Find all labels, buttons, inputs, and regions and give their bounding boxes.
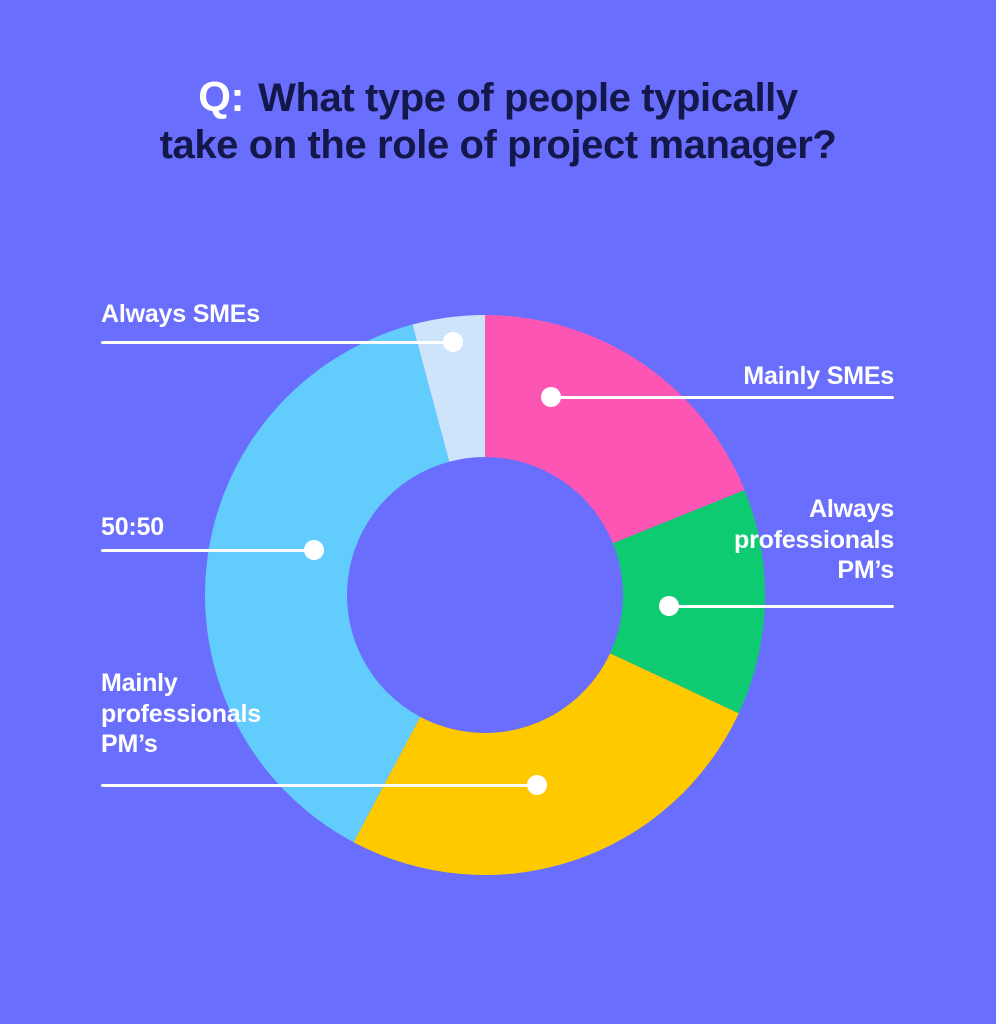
leader-line-always-smes [101,341,453,344]
callout-always-professionals-line-3: PM’s [594,555,894,586]
callout-always-professionals-line-2: professionals [594,525,894,556]
donut-slices [205,315,765,875]
leader-line-fifty-fifty [101,549,315,552]
leader-line-mainly-professionals [101,784,538,787]
callout-fifty-fifty-line-1: 50:50 [101,512,401,543]
leader-line-always-professionals [668,605,894,608]
callout-mainly-smes: Mainly SMEs [594,361,894,392]
callout-always-professionals: Always professionals PM’s [594,494,894,586]
callout-mainly-professionals-line-3: PM’s [101,729,421,760]
leader-line-mainly-smes [551,396,894,399]
callout-fifty-fifty: 50:50 [101,512,401,543]
callout-mainly-professionals-line-2: professionals [101,699,421,730]
callout-always-smes-line-1: Always SMEs [101,299,401,330]
callout-mainly-professionals: Mainly professionals PM’s [101,668,421,760]
callout-mainly-smes-line-1: Mainly SMEs [594,361,894,392]
callout-always-professionals-line-1: Always [594,494,894,525]
callout-mainly-professionals-line-1: Mainly [101,668,421,699]
callout-always-smes: Always SMEs [101,299,401,330]
donut-chart-infographic: Q:What type of people typically take on … [0,0,996,1024]
